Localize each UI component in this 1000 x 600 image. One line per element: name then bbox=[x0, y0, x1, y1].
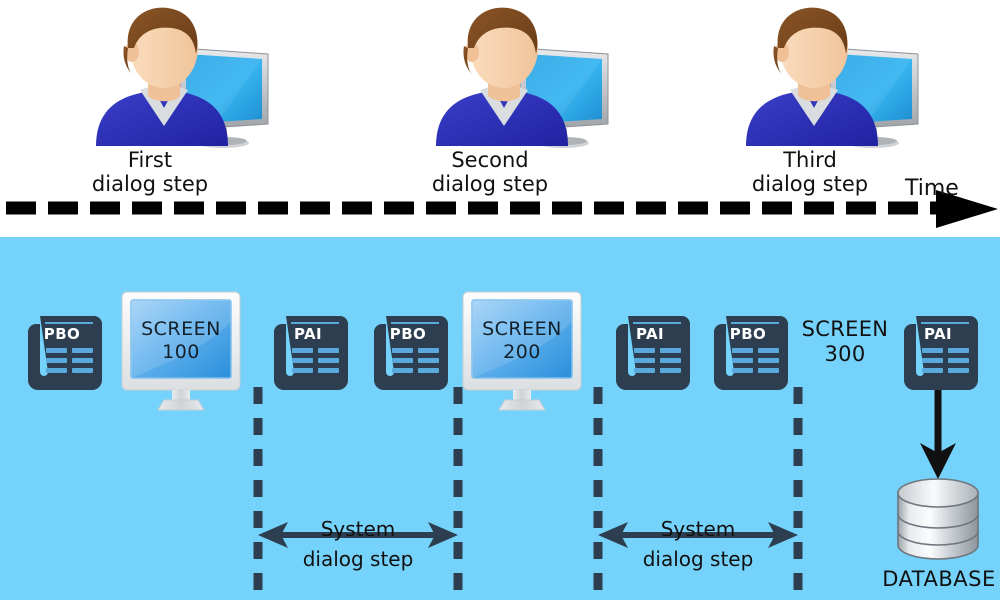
document-icon-pbo-2[interactable]: PBO bbox=[368, 310, 448, 396]
system-step-arrow-2 bbox=[598, 522, 798, 548]
screen-300-label: SCREEN 300 bbox=[790, 317, 900, 367]
time-axis bbox=[0, 190, 1000, 235]
flow-panel: PBO bbox=[0, 237, 1000, 600]
screen-200[interactable]: SCREEN 200 bbox=[463, 292, 581, 414]
system-step-arrow-1 bbox=[258, 522, 458, 548]
timeline-section: First dialog step Second dialog step Thi… bbox=[0, 0, 1000, 237]
diagram-canvas: First dialog step Second dialog step Thi… bbox=[0, 0, 1000, 600]
time-axis-label: Time bbox=[905, 176, 959, 201]
document-icon-pai-3[interactable]: PAI bbox=[898, 310, 978, 396]
person-at-computer-icon bbox=[418, 4, 638, 154]
newspaper-icon bbox=[22, 310, 102, 396]
newspaper-icon bbox=[708, 310, 788, 396]
database-cylinder-icon bbox=[892, 477, 984, 565]
timeline-step-2 bbox=[418, 4, 638, 154]
person-at-computer-icon bbox=[728, 4, 948, 154]
newspaper-icon bbox=[368, 310, 448, 396]
monitor-icon bbox=[463, 292, 581, 414]
screen-100[interactable]: SCREEN 100 bbox=[122, 292, 240, 414]
document-icon-pai-1[interactable]: PAI bbox=[268, 310, 348, 396]
timeline-step-label-2: Second dialog step bbox=[360, 148, 620, 196]
database-icon[interactable] bbox=[892, 477, 984, 565]
newspaper-icon bbox=[268, 310, 348, 396]
database-label: DATABASE bbox=[866, 567, 1000, 591]
document-icon-pbo-1[interactable]: PBO bbox=[22, 310, 102, 396]
timeline-step-label-3: Third dialog step bbox=[680, 148, 940, 196]
document-icon-pai-2[interactable]: PAI bbox=[610, 310, 690, 396]
timeline-step-label-1: First dialog step bbox=[20, 148, 280, 196]
newspaper-icon bbox=[610, 310, 690, 396]
person-at-computer-icon bbox=[78, 4, 298, 154]
newspaper-icon bbox=[898, 310, 978, 396]
timeline-step-3 bbox=[728, 4, 948, 154]
document-icon-pbo-3[interactable]: PBO bbox=[708, 310, 788, 396]
monitor-icon bbox=[122, 292, 240, 414]
timeline-step-1 bbox=[78, 4, 298, 154]
